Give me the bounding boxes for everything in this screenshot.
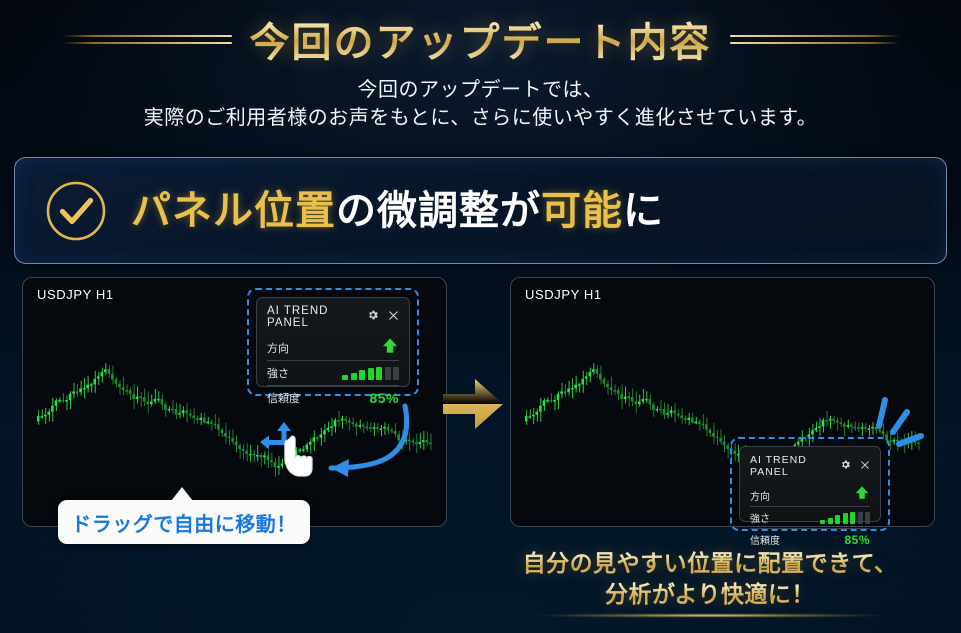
ai-trend-panel-moved-position[interactable]: AI TREND PANEL 方向: [730, 437, 890, 531]
confidence-value: 85%: [844, 533, 870, 547]
panel-row-label: 強さ: [750, 510, 770, 525]
page-title: 今回のアップデート内容: [250, 10, 712, 68]
ai-trend-panel[interactable]: AI TREND PANEL 方向: [256, 297, 410, 387]
curved-arrow-left-icon: [305, 398, 415, 480]
gold-arrow-right-icon: [443, 375, 505, 433]
feature-banner: パネル位置の微調整が可能に: [14, 157, 947, 264]
close-icon[interactable]: [388, 308, 399, 326]
drag-hint-bubble: ドラッグで自由に移動！: [58, 500, 310, 544]
trend-up-arrow-icon: [381, 337, 399, 359]
banner-text: パネル位置の微調整が可能に: [131, 191, 664, 231]
panel-row-direction: 方向: [267, 335, 399, 360]
sparkle-lines-icon: [871, 396, 933, 468]
strength-bars: [820, 511, 870, 524]
ai-trend-panel[interactable]: AI TREND PANEL 方向: [739, 446, 881, 522]
trend-up-arrow-icon: [854, 485, 870, 505]
close-icon[interactable]: [860, 457, 870, 475]
gear-icon[interactable]: [840, 457, 851, 475]
chart-symbol-label: USDJPY H1: [37, 287, 114, 302]
gear-icon[interactable]: [367, 308, 379, 326]
panel-row-strength: 強さ: [750, 506, 870, 528]
bubble-tail: [171, 487, 193, 501]
subtitle-line-1: 今回のアップデートでは、: [0, 76, 961, 104]
check-circle-icon: [45, 180, 107, 242]
banner-text-part6: に: [623, 189, 664, 233]
panel-row-confidence: 信頼度 85%: [750, 528, 870, 550]
panel-row-strength: 強さ: [267, 360, 399, 385]
footer-line-1: 自分の見やすい位置に配置できて、: [480, 548, 940, 579]
page-header: 今回のアップデート内容: [0, 8, 961, 70]
panel-title: AI TREND PANEL: [750, 454, 840, 478]
panel-row-label: 信頼度: [267, 390, 300, 406]
banner-text-part1: パネル位置: [131, 189, 336, 233]
ai-trend-panel-original-position[interactable]: AI TREND PANEL 方向: [247, 288, 419, 396]
panel-row-direction: 方向: [750, 484, 870, 506]
subtitle-line-2: 実際のご利用者様のお声をもとに、さらに使いやすく進化させています。: [0, 104, 961, 132]
banner-text-part3: 微調整: [377, 189, 500, 233]
panel-header: AI TREND PANEL: [750, 454, 870, 484]
panel-title: AI TREND PANEL: [267, 305, 367, 329]
footer-glow-line: [470, 614, 950, 617]
gold-double-line-icon: [62, 35, 232, 44]
banner-text-part2: の: [336, 189, 377, 233]
panel-header: AI TREND PANEL: [267, 305, 399, 335]
drag-hint-text: ドラッグで自由に移動！: [71, 508, 297, 537]
panel-row-label: 方向: [267, 340, 289, 356]
footer-text: 自分の見やすい位置に配置できて、 分析がより快適に！: [480, 548, 940, 610]
chart-symbol-label: USDJPY H1: [525, 287, 602, 302]
banner-text-part5: 可能: [541, 189, 623, 233]
page-subtitle: 今回のアップデートでは、 実際のご利用者様のお声をもとに、さらに使いやすく進化さ…: [0, 76, 961, 132]
panel-row-label: 信頼度: [750, 532, 780, 547]
panel-row-label: 強さ: [267, 365, 289, 381]
panel-row-label: 方向: [750, 488, 770, 503]
banner-text-part4: が: [500, 189, 541, 233]
strength-bars: [342, 367, 399, 380]
gold-double-line-icon: [730, 35, 900, 44]
footer-line-2: 分析がより快適に！: [480, 579, 940, 610]
